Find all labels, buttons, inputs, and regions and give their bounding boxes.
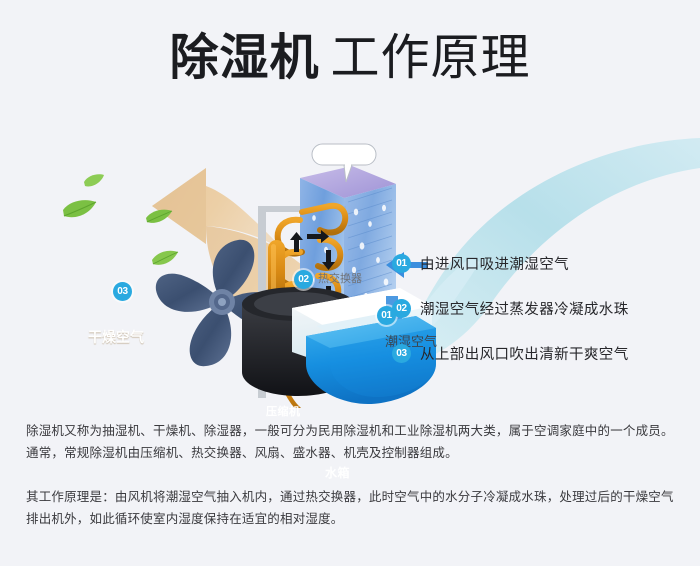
page-title: 除湿机工作原理 bbox=[0, 34, 700, 83]
body-paragraph-1: 除湿机又称为抽湿机、干燥机、除湿器，一般可分为民用除湿机和工业除湿机两大类，属于… bbox=[26, 420, 678, 464]
legend-item-01: 01 由进风口吸进潮湿空气 bbox=[392, 252, 688, 274]
page-title-light: 工作原理 bbox=[331, 31, 531, 85]
diagram-badge-heat-exchanger: 02 bbox=[294, 270, 313, 289]
legend-badge-03: 03 bbox=[392, 344, 411, 363]
legend-badge-02: 02 bbox=[392, 299, 411, 318]
legend-item-03: 03 从上部出风口吹出清新干爽空气 bbox=[392, 342, 688, 364]
body-paragraph-2: 其工作原理是：由风机将潮湿空气抽入机内，通过热交换器，此时空气中的水分子冷凝成水… bbox=[26, 486, 678, 530]
diagram-badge-dry-air: 03 bbox=[113, 282, 132, 301]
body-copy: 除湿机又称为抽湿机、干燥机、除湿器，一般可分为民用除湿机和工业除湿机两大类，属于… bbox=[26, 420, 678, 530]
legend-list: 01 由进风口吸进潮湿空气 02 潮湿空气经过蒸发器冷凝成水珠 03 从上部出风… bbox=[392, 252, 688, 364]
legend-label-01: 由进风口吸进潮湿空气 bbox=[420, 253, 569, 274]
page-title-strong: 除湿机 bbox=[169, 31, 319, 85]
legend-item-02: 02 潮湿空气经过蒸发器冷凝成水珠 bbox=[392, 297, 688, 319]
legend-badge-01: 01 bbox=[392, 254, 411, 273]
legend-label-03: 从上部出风口吹出清新干爽空气 bbox=[420, 343, 629, 364]
legend-label-02: 潮湿空气经过蒸发器冷凝成水珠 bbox=[420, 298, 629, 319]
leaf-icon-group bbox=[63, 174, 178, 265]
dehumidifier-infographic: 除湿机工作原理 bbox=[0, 0, 700, 566]
